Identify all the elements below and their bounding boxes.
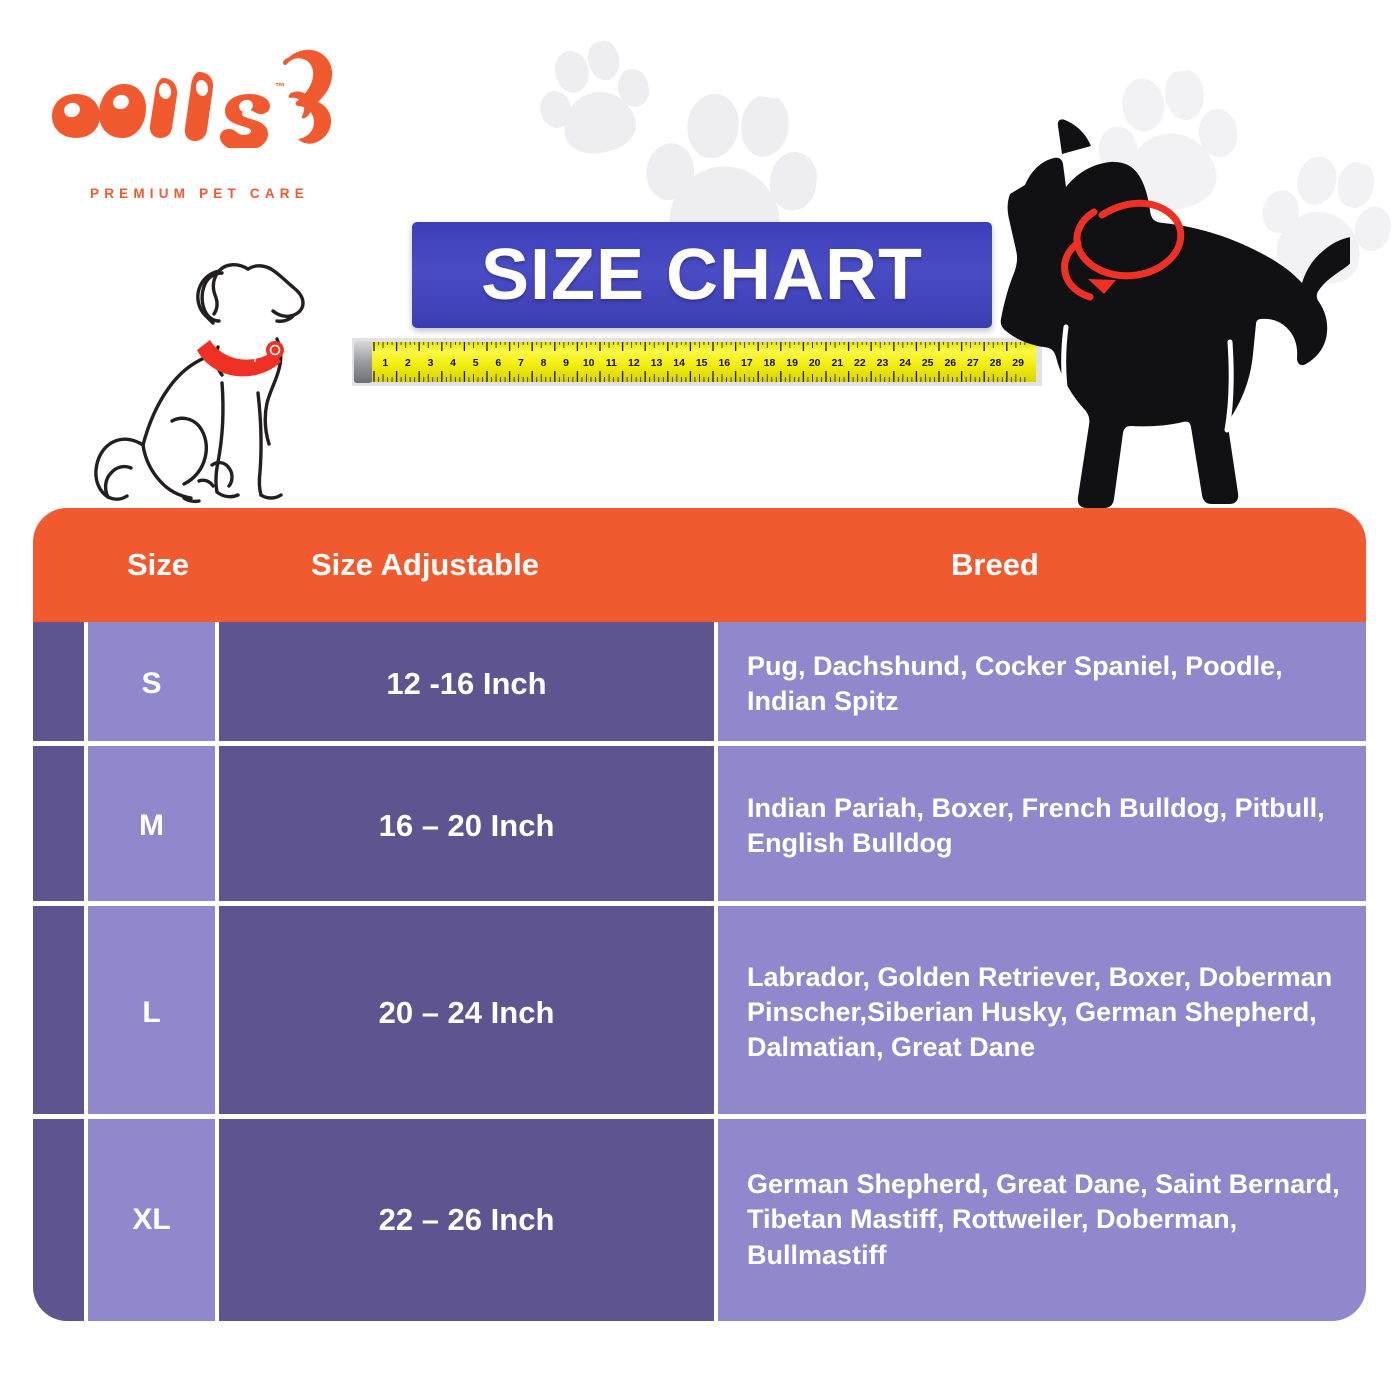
table-header-row: Size Size Adjustable Breed — [33, 508, 1366, 622]
tape-number: 21 — [831, 357, 843, 369]
collar-icon — [197, 340, 284, 376]
tape-number: 1 — [382, 357, 388, 369]
tape-number: 10 — [583, 357, 595, 369]
cell-breed: Pug, Dachshund, Cocker Spaniel, Poodle, … — [718, 622, 1366, 746]
size-value: XL — [132, 1203, 170, 1237]
paw-print-icon — [528, 34, 662, 172]
breed-value: German Shepherd, Great Dane, Saint Berna… — [718, 1167, 1366, 1272]
tape-number: 17 — [741, 357, 753, 369]
column-header-breed: Breed — [951, 508, 1039, 622]
adjustable-value: 12 -16 Inch — [386, 666, 546, 702]
tape-number: 15 — [696, 357, 708, 369]
column-header-size: Size — [127, 508, 189, 622]
table-row: XL 22 – 26 Inch German Shepherd, Great D… — [33, 1119, 1366, 1321]
table-row: M 16 – 20 Inch Indian Pariah, Boxer, Fre… — [33, 746, 1366, 906]
adjustable-value: 16 – 20 Inch — [379, 808, 555, 844]
tape-number: 3 — [428, 357, 434, 369]
table-body: S 12 -16 Inch Pug, Dachshund, Cocker Spa… — [33, 622, 1366, 1331]
tape-number: 11 — [606, 357, 617, 369]
cell-adjustable: 20 – 24 Inch — [219, 906, 714, 1119]
cell-adjustable: 12 -16 Inch — [219, 622, 714, 746]
size-chart-title: SIZE CHART — [481, 239, 923, 311]
tape-number: 9 — [563, 357, 569, 369]
cell-size: L — [88, 906, 215, 1119]
row-rail — [33, 746, 84, 906]
row-rail — [33, 1119, 84, 1321]
breed-value: Pug, Dachshund, Cocker Spaniel, Poodle, … — [718, 649, 1366, 719]
tape-number: 12 — [628, 357, 640, 369]
adils-wordmark-icon: ™ — [42, 48, 342, 138]
adjustable-value: 22 – 26 Inch — [379, 1202, 555, 1238]
brand-logo: ™ PREMIUM PET CARE — [42, 48, 342, 168]
tape-number: 5 — [473, 357, 479, 369]
tape-number: 8 — [541, 357, 547, 369]
tape-number: 24 — [899, 357, 911, 369]
size-value: S — [141, 667, 161, 701]
tape-number: 20 — [809, 357, 821, 369]
row-rail — [33, 906, 84, 1119]
cell-adjustable: 22 – 26 Inch — [219, 1119, 714, 1321]
dog-sitting-outline-icon — [62, 243, 362, 511]
cell-size: M — [88, 746, 215, 906]
tape-number: 13 — [651, 357, 663, 369]
trademark-symbol: ™ — [275, 82, 285, 93]
table-row: S 12 -16 Inch Pug, Dachshund, Cocker Spa… — [33, 622, 1366, 746]
table-row: L 20 – 24 Inch Labrador, Golden Retrieve… — [33, 906, 1366, 1119]
brand-tagline: PREMIUM PET CARE — [90, 186, 309, 201]
tape-number: 19 — [786, 357, 798, 369]
tape-number: 6 — [495, 357, 501, 369]
cell-adjustable: 16 – 20 Inch — [219, 746, 714, 906]
size-chart-table: Size Size Adjustable Breed S 12 -16 Inch… — [33, 508, 1366, 1331]
cell-size: S — [88, 622, 215, 746]
tape-number: 14 — [673, 357, 685, 369]
row-rail — [33, 622, 84, 746]
tape-number: 4 — [450, 357, 456, 369]
tape-number: 7 — [518, 357, 524, 369]
tape-number: 18 — [764, 357, 776, 369]
tape-number: 2 — [405, 357, 411, 369]
column-header-adjustable: Size Adjustable — [311, 508, 539, 622]
adjustable-value: 20 – 24 Inch — [379, 995, 555, 1031]
tape-number: 16 — [718, 357, 730, 369]
breed-value: Indian Pariah, Boxer, French Bulldog, Pi… — [718, 791, 1366, 861]
cell-breed: Labrador, Golden Retriever, Boxer, Dober… — [718, 906, 1366, 1119]
cell-size: XL — [88, 1119, 215, 1321]
size-value: L — [142, 996, 160, 1030]
tape-number: 22 — [854, 357, 866, 369]
size-chart-banner: SIZE CHART — [412, 222, 992, 328]
breed-value: Labrador, Golden Retriever, Boxer, Dober… — [718, 960, 1366, 1065]
cell-breed: German Shepherd, Great Dane, Saint Berna… — [718, 1119, 1366, 1321]
cell-breed: Indian Pariah, Boxer, French Bulldog, Pi… — [718, 746, 1366, 906]
size-value: M — [139, 809, 164, 843]
dog-standing-silhouette-icon — [930, 92, 1350, 512]
tape-number: 23 — [877, 357, 889, 369]
